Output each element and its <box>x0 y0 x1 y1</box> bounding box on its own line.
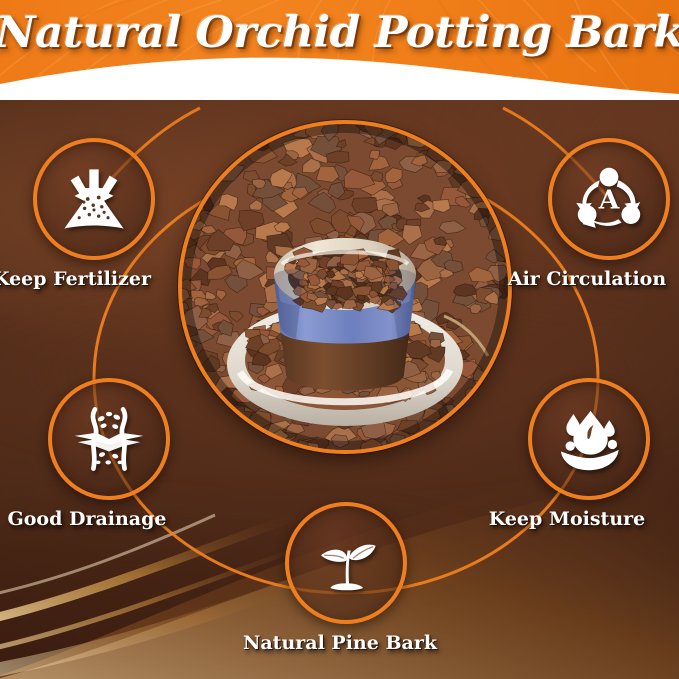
banner-wave-edge <box>0 54 679 100</box>
water-droplet-icon <box>550 400 628 478</box>
feature-air-circulation[interactable]: A <box>548 138 670 260</box>
feature-natural-pine-bark[interactable] <box>285 502 407 624</box>
header-banner: Natural Orchid Potting Bark <box>0 0 679 100</box>
feature-icon-circle <box>285 502 407 624</box>
feature-icon-circle <box>528 378 650 500</box>
page-title: Natural Orchid Potting Bark <box>0 8 679 58</box>
air-circulation-cycle-icon: A <box>570 160 648 238</box>
svg-text:A: A <box>598 184 620 215</box>
seedling-sprout-icon <box>307 524 385 602</box>
drainage-layers-icon <box>70 400 148 478</box>
feature-label-keep-fertilizer: Keep Fertilizer <box>0 268 202 290</box>
feature-icon-circle <box>48 378 170 500</box>
feature-good-drainage[interactable] <box>48 378 170 500</box>
product-infographic: Natural Orchid Potting Bark <box>0 0 679 679</box>
feature-keep-moisture[interactable] <box>528 378 650 500</box>
feature-label-good-drainage: Good Drainage <box>0 508 217 530</box>
feature-label-air-circulation: Air Circulation <box>457 268 679 290</box>
fertilizer-mound-arrows-icon <box>55 160 133 238</box>
feature-icon-circle: A <box>548 138 670 260</box>
feature-keep-fertilizer[interactable] <box>33 138 155 260</box>
feature-icon-circle <box>33 138 155 260</box>
feature-label-keep-moisture: Keep Moisture <box>437 508 679 530</box>
feature-label-natural-pine-bark: Natural Pine Bark <box>210 632 470 654</box>
